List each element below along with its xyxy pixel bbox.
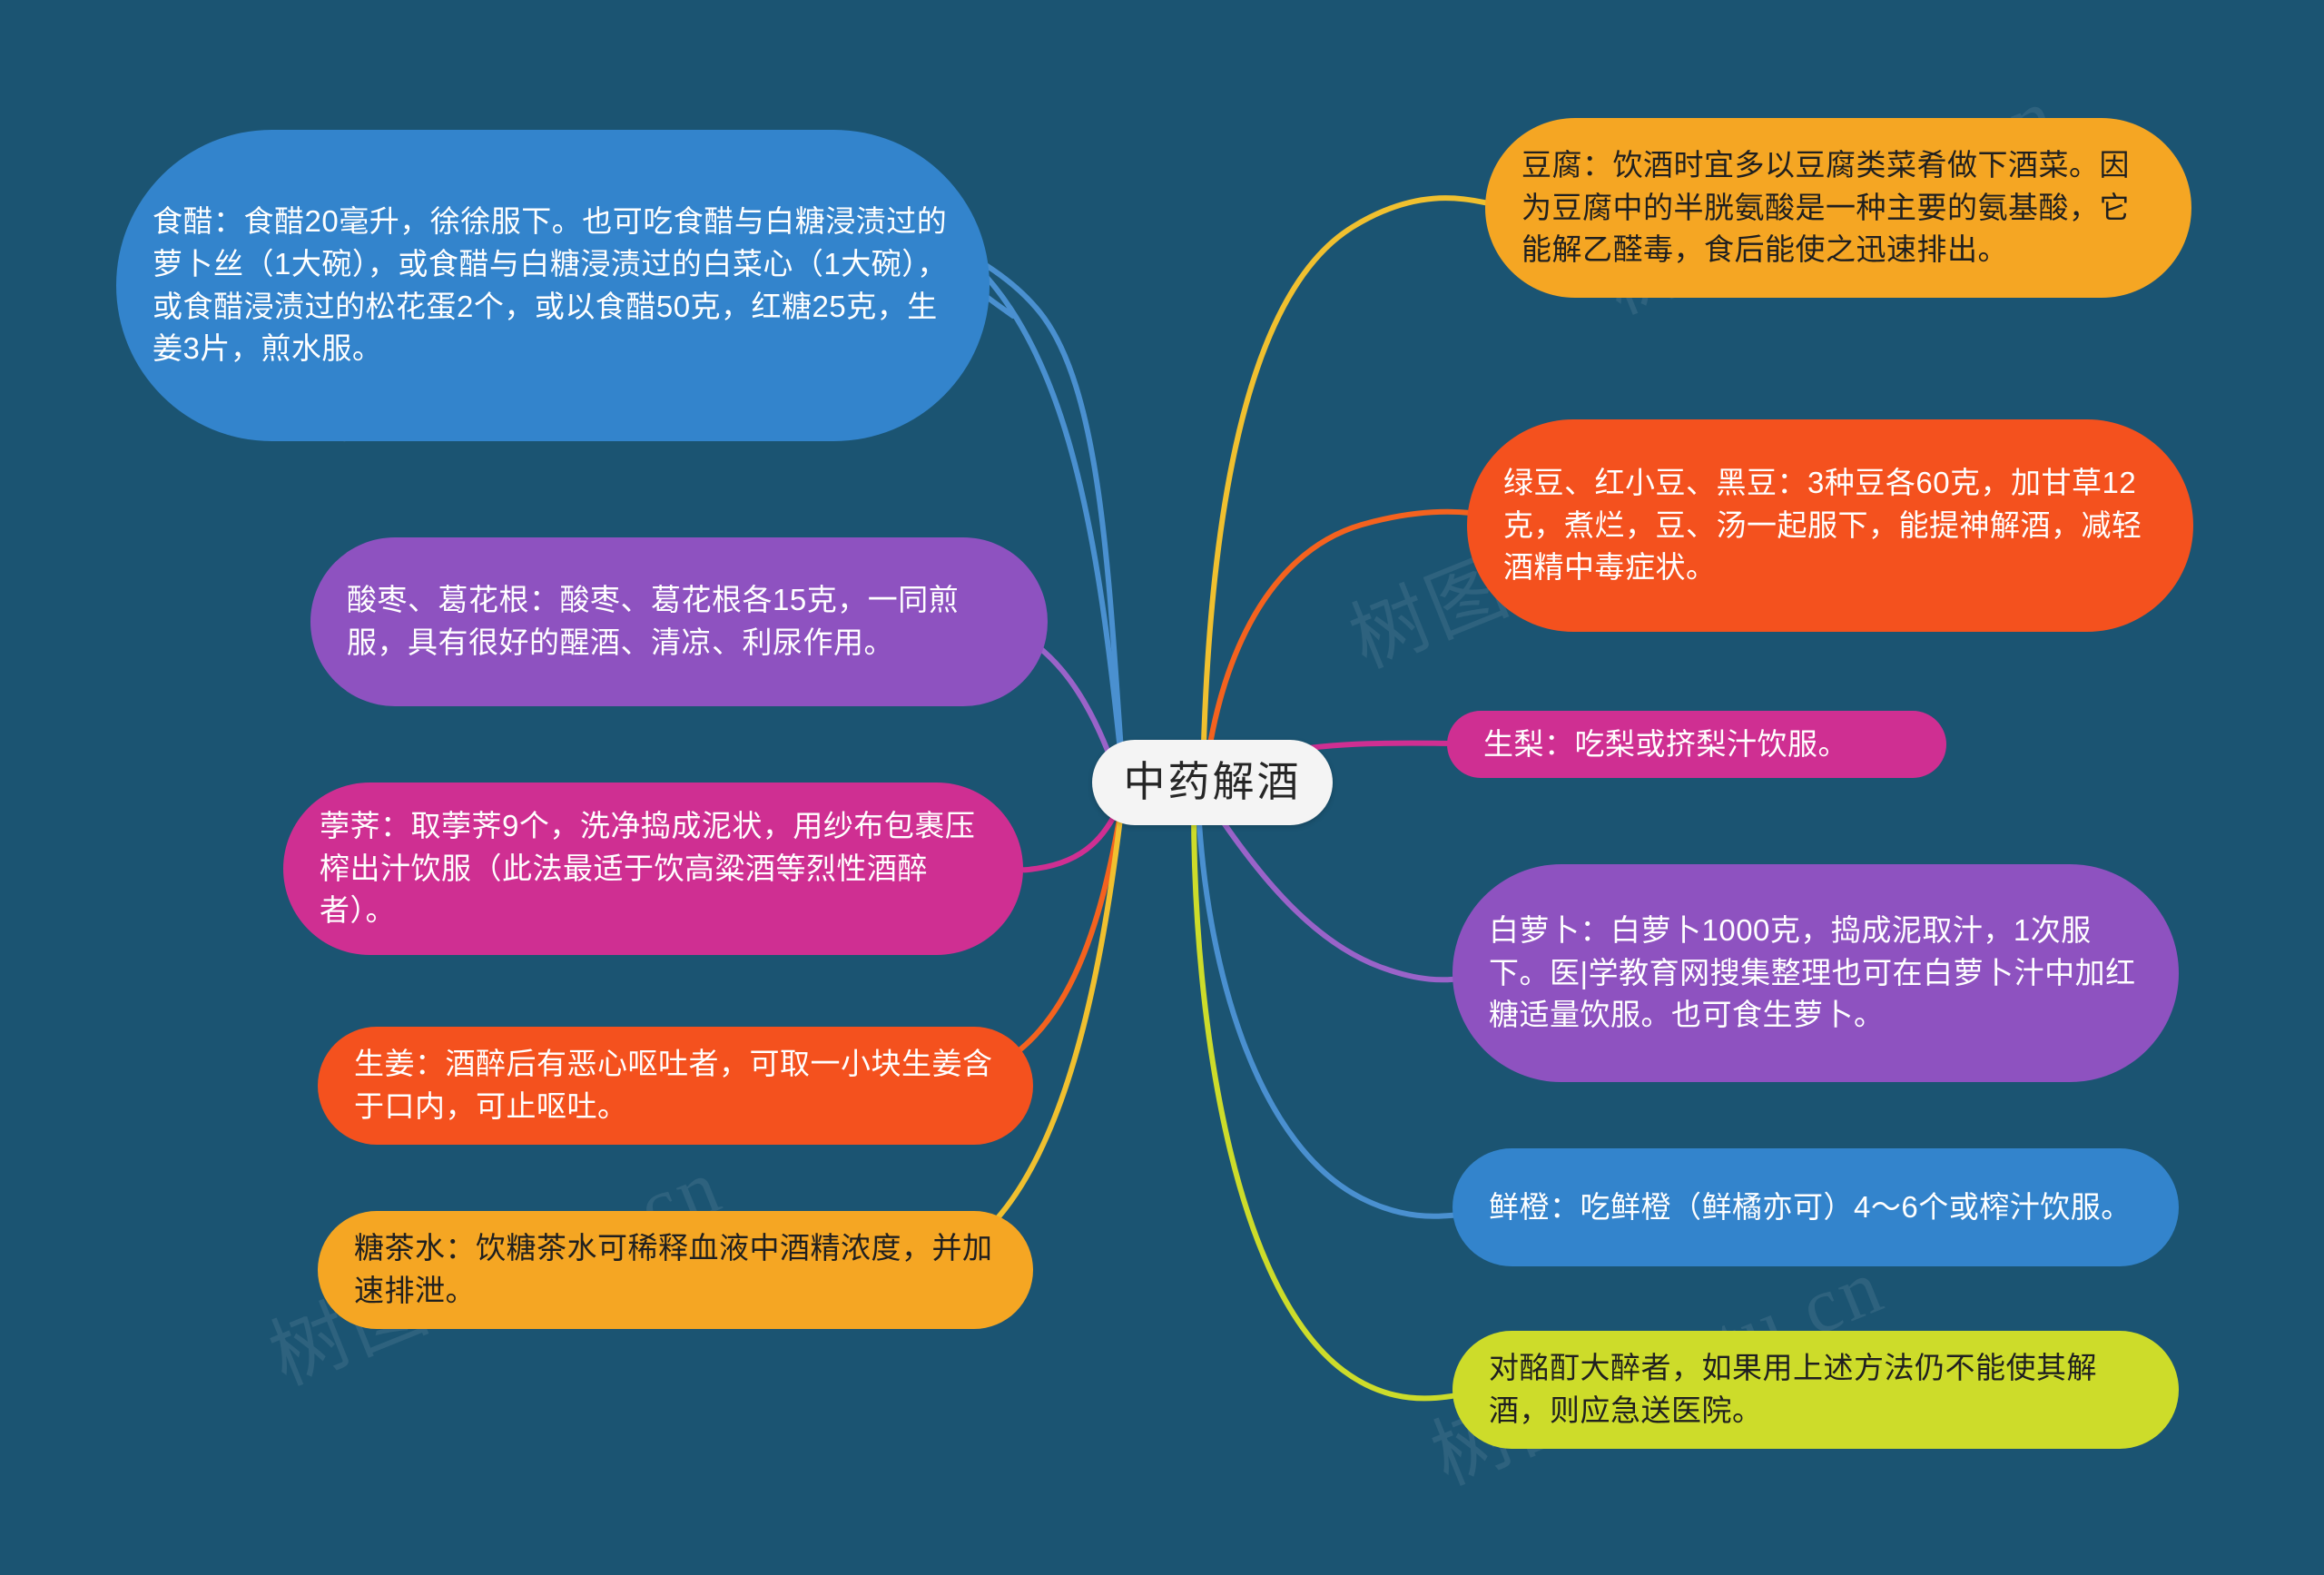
branch-node-bailuobo-label: 白萝卜：白萝卜1000克，捣成泥取汁，1次服下。医|学教育网搜集整理也可在白萝卜… [1489, 910, 2142, 1038]
branch-node-xiancheng[interactable]: 鲜橙：吃鲜橙（鲜橘亦可）4～6个或榨汁饮服。 [1452, 1148, 2179, 1266]
root-node-label: 中药解酒 [1092, 753, 1333, 812]
branch-node-doufu-label: 豆腐：饮酒时宜多以豆腐类菜肴做下酒菜。因为豆腐中的半胱氨酸是一种主要的氨基酸，它… [1521, 144, 2155, 272]
branch-node-biqi[interactable]: 荸荠：取荸荠9个，洗净捣成泥状，用纱布包裹压榨出汁饮服（此法最适于饮高粱酒等烈性… [283, 783, 1023, 955]
branch-node-jizuidaxu-label: 对酩酊大醉者，如果用上述方法仍不能使其解酒，则应急送医院。 [1489, 1347, 2142, 1432]
branch-node-doufu[interactable]: 豆腐：饮酒时宜多以豆腐类菜肴做下酒菜。因为豆腐中的半胱氨酸是一种主要的氨基酸，它… [1485, 118, 2191, 298]
edge-to-xiancheng [1198, 808, 1462, 1216]
branch-node-shengjiang[interactable]: 生姜：酒醉后有恶心呕吐者，可取一小块生姜含于口内，可止呕吐。 [318, 1027, 1033, 1145]
branch-node-tangchashui-label: 糖茶水：饮糖茶水可稀释血液中酒精浓度，并加速排泄。 [354, 1227, 997, 1313]
branch-node-jizuidaxu[interactable]: 对酩酊大醉者，如果用上述方法仍不能使其解酒，则应急送医院。 [1452, 1331, 2179, 1449]
branch-node-shicu-label: 食醋：食醋20毫升，徐徐服下。也可吃食醋与白糖浸渍过的萝卜丝（1大碗），或食醋与… [153, 201, 953, 370]
branch-node-ludou-label: 绿豆、红小豆、黑豆：3种豆各60克，加甘草12克，煮烂，豆、汤一起服下，能提神解… [1503, 462, 2157, 590]
branch-node-biqi-label: 荸荠：取荸荠9个，洗净捣成泥状，用纱布包裹压榨出汁饮服（此法最适于饮高粱酒等烈性… [320, 805, 987, 933]
branch-node-shengli[interactable]: 生梨：吃梨或挤梨汁饮服。 [1447, 711, 1946, 778]
branch-node-suanzao-label: 酸枣、葛花根：酸枣、葛花根各15克，一同煎服，具有很好的醒酒、清凉、利尿作用。 [347, 579, 1011, 664]
mindmap-canvas: 树图 shutu.cn 树图 shutu.cn 树图 shutu.cn 树图 s… [0, 0, 2324, 1575]
edge-to-jizuidaxu [1194, 808, 1463, 1398]
branch-node-xiancheng-label: 鲜橙：吃鲜橙（鲜橘亦可）4～6个或榨汁饮服。 [1489, 1186, 2142, 1229]
branch-node-suanzao[interactable]: 酸枣、葛花根：酸枣、葛花根各15克，一同煎服，具有很好的醒酒、清凉、利尿作用。 [310, 537, 1048, 706]
branch-node-ludou[interactable]: 绿豆、红小豆、黑豆：3种豆各60克，加甘草12克，煮烂，豆、汤一起服下，能提神解… [1467, 419, 2193, 632]
edge-to-bailuobo [1207, 799, 1463, 979]
branch-node-tangchashui[interactable]: 糖茶水：饮糖茶水可稀释血液中酒精浓度，并加速排泄。 [318, 1211, 1033, 1329]
branch-node-shicu[interactable]: 食醋：食醋20毫升，徐徐服下。也可吃食醋与白糖浸渍过的萝卜丝（1大碗），或食醋与… [116, 130, 990, 441]
branch-node-shengli-label: 生梨：吃梨或挤梨汁饮服。 [1483, 724, 1910, 766]
branch-node-shengjiang-label: 生姜：酒醉后有恶心呕吐者，可取一小块生姜含于口内，可止呕吐。 [354, 1043, 997, 1128]
root-node[interactable]: 中药解酒 [1092, 740, 1333, 825]
edge-to-doufu [1203, 198, 1489, 776]
branch-node-bailuobo[interactable]: 白萝卜：白萝卜1000克，捣成泥取汁，1次服下。医|学教育网搜集整理也可在白萝卜… [1452, 864, 2179, 1082]
